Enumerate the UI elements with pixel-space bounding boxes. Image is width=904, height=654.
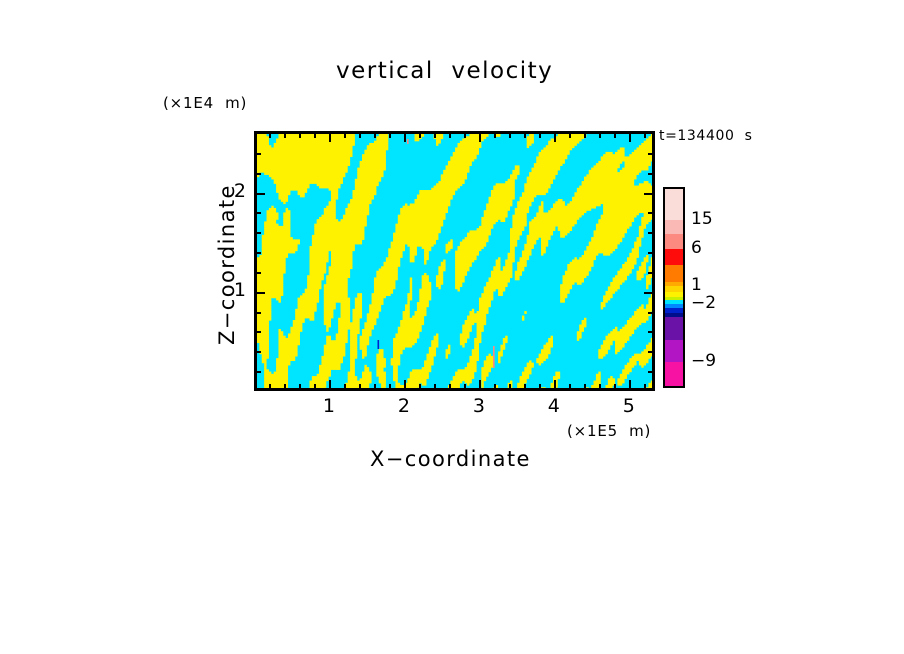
x-minor-tick xyxy=(434,384,436,389)
x-minor-tick xyxy=(389,384,391,389)
x-minor-tick-top xyxy=(299,133,301,138)
x-minor-tick-top xyxy=(344,133,346,138)
page-title: vertical velocity xyxy=(336,58,553,84)
x-minor-tick-top xyxy=(509,133,511,138)
x-minor-tick-top xyxy=(374,133,376,138)
x-minor-tick xyxy=(584,384,586,389)
y-minor-tick-right xyxy=(648,212,653,214)
x-tick-label: 2 xyxy=(389,395,419,417)
x-minor-tick-top xyxy=(434,133,436,138)
x-axis-unit-label: (×1E5 m) xyxy=(567,422,651,440)
x-minor-tick-top xyxy=(269,133,271,138)
x-minor-tick-top xyxy=(569,133,571,138)
y-minor-tick xyxy=(256,232,261,234)
y-minor-tick xyxy=(256,212,261,214)
y-major-tick xyxy=(256,193,265,195)
colorbar-band xyxy=(665,340,683,363)
x-major-tick-top xyxy=(329,133,331,142)
x-major-tick-top xyxy=(404,133,406,142)
y-minor-tick xyxy=(256,173,261,175)
x-minor-tick xyxy=(374,384,376,389)
contour-plot-area xyxy=(254,131,655,391)
x-minor-tick-top xyxy=(389,133,391,138)
x-minor-tick-top xyxy=(614,133,616,138)
x-minor-tick xyxy=(359,384,361,389)
colorbar-band xyxy=(665,234,683,248)
x-minor-tick xyxy=(539,384,541,389)
y-minor-tick xyxy=(256,252,261,254)
y-minor-tick-right xyxy=(648,173,653,175)
x-minor-tick xyxy=(299,384,301,389)
y-minor-tick-right xyxy=(648,272,653,274)
y-minor-tick-right xyxy=(648,312,653,314)
x-tick-label: 5 xyxy=(614,395,644,417)
colorbar-band xyxy=(665,362,683,386)
y-major-tick xyxy=(256,292,265,294)
y-minor-tick-right xyxy=(648,252,653,254)
colorbar-band xyxy=(665,249,683,265)
x-minor-tick-top xyxy=(524,133,526,138)
x-minor-tick xyxy=(269,384,271,389)
x-major-tick xyxy=(329,380,331,389)
figure-canvas: vertical velocity (×1E4 m) (×1E5 m) X−co… xyxy=(0,0,904,654)
x-major-tick xyxy=(479,380,481,389)
x-axis-title: X−coordinate xyxy=(370,447,531,471)
colorbar-band xyxy=(665,265,683,282)
x-minor-tick-top xyxy=(494,133,496,138)
x-minor-tick-top xyxy=(419,133,421,138)
x-major-tick xyxy=(554,380,556,389)
x-tick-label: 3 xyxy=(464,395,494,417)
colorbar-band xyxy=(665,220,683,234)
colorbar-tick-label: −9 xyxy=(691,351,716,371)
x-minor-tick xyxy=(419,384,421,389)
y-tick-label: 2 xyxy=(222,180,246,202)
x-minor-tick xyxy=(644,384,646,389)
colorbar xyxy=(663,187,685,388)
x-minor-tick xyxy=(494,384,496,389)
y-minor-tick-right xyxy=(648,232,653,234)
y-minor-tick xyxy=(256,153,261,155)
colorbar-tick-label: −2 xyxy=(691,293,716,313)
x-major-tick xyxy=(404,380,406,389)
x-minor-tick-top xyxy=(539,133,541,138)
x-minor-tick xyxy=(524,384,526,389)
x-tick-label: 4 xyxy=(539,395,569,417)
y-axis-title: Z−coordinate xyxy=(215,184,239,345)
x-minor-tick-top xyxy=(599,133,601,138)
y-minor-tick xyxy=(256,371,261,373)
x-minor-tick xyxy=(464,384,466,389)
x-major-tick xyxy=(629,380,631,389)
y-minor-tick xyxy=(256,331,261,333)
x-minor-tick-top xyxy=(284,133,286,138)
y-minor-tick xyxy=(256,312,261,314)
x-minor-tick-top xyxy=(449,133,451,138)
y-minor-tick-right xyxy=(648,351,653,353)
x-minor-tick-top xyxy=(314,133,316,138)
y-minor-tick-right xyxy=(648,371,653,373)
y-minor-tick-right xyxy=(648,153,653,155)
x-minor-tick xyxy=(614,384,616,389)
x-minor-tick-top xyxy=(584,133,586,138)
x-major-tick-top xyxy=(629,133,631,142)
x-minor-tick xyxy=(344,384,346,389)
x-major-tick-top xyxy=(554,133,556,142)
y-tick-label: 1 xyxy=(222,279,246,301)
x-major-tick-top xyxy=(479,133,481,142)
y-axis-unit-label: (×1E4 m) xyxy=(163,94,247,112)
x-minor-tick xyxy=(284,384,286,389)
colorbar-tick-label: 15 xyxy=(691,209,713,229)
y-minor-tick xyxy=(256,272,261,274)
x-minor-tick xyxy=(449,384,451,389)
x-tick-label: 1 xyxy=(314,395,344,417)
x-minor-tick xyxy=(599,384,601,389)
colorbar-band xyxy=(665,317,683,340)
y-minor-tick xyxy=(256,351,261,353)
y-major-tick-right xyxy=(644,292,653,294)
colorbar-band xyxy=(665,189,683,220)
x-minor-tick xyxy=(569,384,571,389)
vertical-velocity-field xyxy=(257,134,655,391)
x-minor-tick-top xyxy=(644,133,646,138)
colorbar-tick-label: 6 xyxy=(691,238,702,258)
timestamp-annotation: t=134400 s xyxy=(659,128,752,144)
y-minor-tick-right xyxy=(648,331,653,333)
x-minor-tick xyxy=(314,384,316,389)
x-minor-tick xyxy=(509,384,511,389)
x-minor-tick-top xyxy=(359,133,361,138)
x-minor-tick-top xyxy=(464,133,466,138)
y-major-tick-right xyxy=(644,193,653,195)
